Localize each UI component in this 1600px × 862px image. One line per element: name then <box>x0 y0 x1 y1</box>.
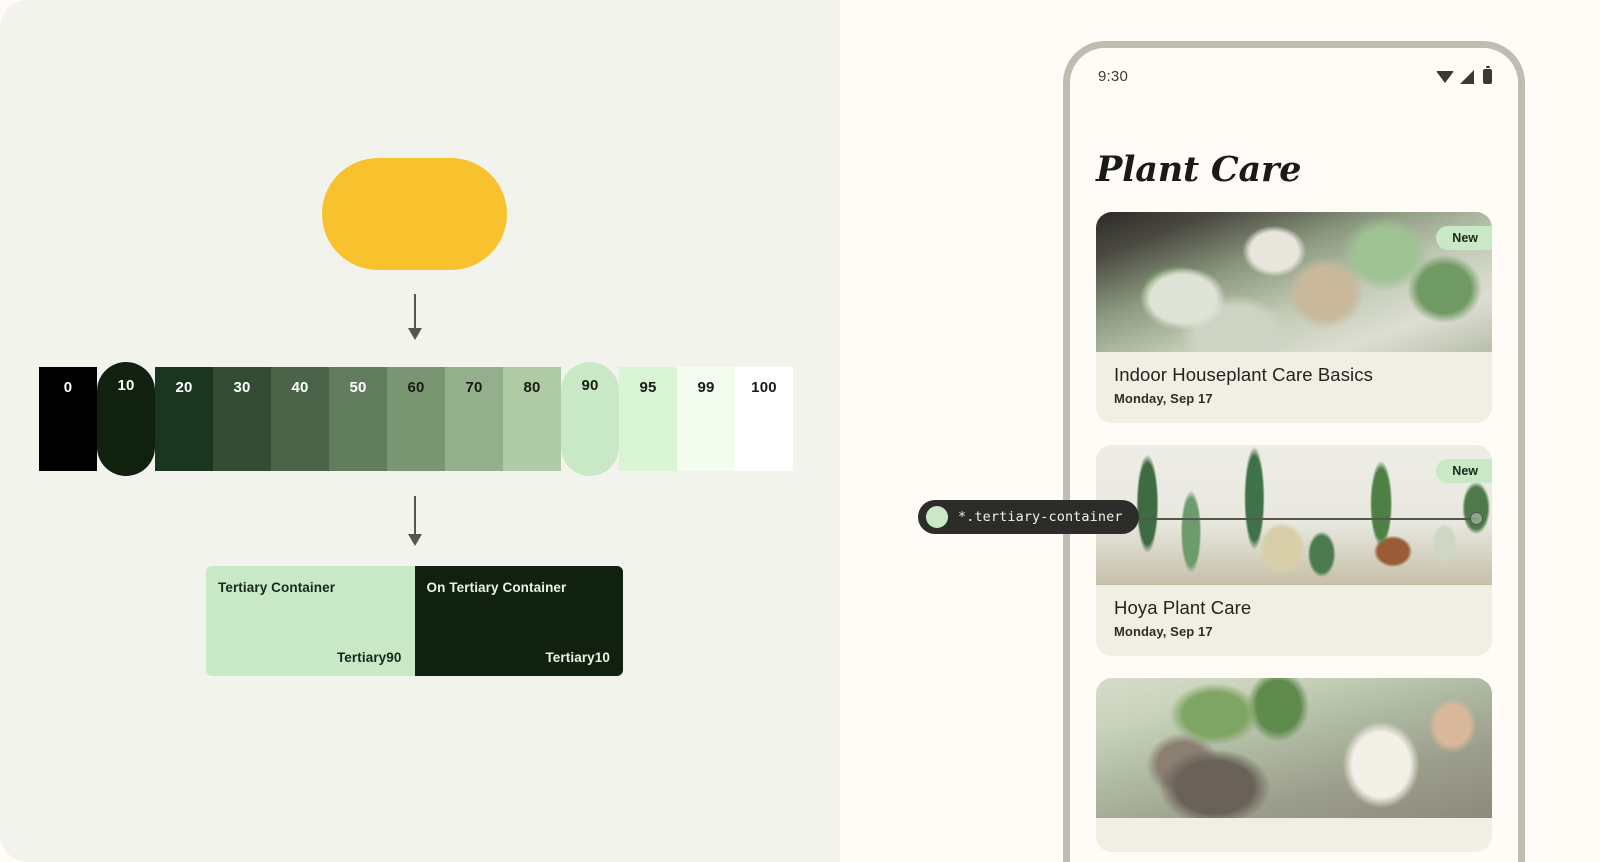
tone-swatch-95[interactable]: 95 <box>619 367 677 471</box>
article-card-list: New Indoor Houseplant Care Basics Monday… <box>1070 212 1518 852</box>
tone-swatch-99[interactable]: 99 <box>677 367 735 471</box>
phone-mockup: 9:30 Plant Care New Indoor Houseplant Ca… <box>1063 41 1525 862</box>
signal-icon <box>1460 70 1474 84</box>
tone-swatch-label: 95 <box>619 379 677 396</box>
card-date: Monday, Sep 17 <box>1114 391 1476 406</box>
cactus-shelf-photo <box>1096 445 1492 585</box>
card-title: Indoor Houseplant Care Basics <box>1114 364 1476 386</box>
source-color-swatch[interactable] <box>322 158 507 270</box>
tone-swatch-80[interactable]: 80 <box>503 367 561 471</box>
card-image: New <box>1096 445 1492 585</box>
tone-swatch-label: 20 <box>155 379 213 396</box>
arrow-head <box>408 534 422 546</box>
status-icon-group <box>1436 69 1492 84</box>
battery-icon <box>1483 69 1492 84</box>
tone-swatch-label: 60 <box>387 379 445 396</box>
tonal-palette-row: 01020304050607080909599100 <box>39 367 793 471</box>
arrow-source-to-palette <box>405 294 425 340</box>
tone-swatch-40[interactable]: 40 <box>271 367 329 471</box>
card-date: Monday, Sep 17 <box>1114 624 1476 639</box>
card-image <box>1096 678 1492 818</box>
tone-reference-label: Tertiary10 <box>545 650 610 665</box>
tone-swatch-30[interactable]: 30 <box>213 367 271 471</box>
status-bar: 9:30 <box>1070 48 1518 104</box>
list-item[interactable]: New Indoor Houseplant Care Basics Monday… <box>1096 212 1492 423</box>
card-body: Indoor Houseplant Care Basics Monday, Se… <box>1096 352 1492 423</box>
wifi-icon <box>1436 71 1454 83</box>
tone-swatch-label: 0 <box>39 379 97 396</box>
list-item[interactable]: New Hoya Plant Care Monday, Sep 17 <box>1096 445 1492 656</box>
tone-swatch-label: 50 <box>329 379 387 396</box>
role-label: On Tertiary Container <box>427 580 610 595</box>
tone-swatch-0[interactable]: 0 <box>39 367 97 471</box>
role-label: Tertiary Container <box>218 580 401 595</box>
status-badge[interactable]: New <box>1436 226 1492 250</box>
arrow-palette-to-roles <box>405 496 425 546</box>
annotation-leader-line <box>1123 518 1478 520</box>
tone-swatch-label: 30 <box>213 379 271 396</box>
phone-screen: 9:30 Plant Care New Indoor Houseplant Ca… <box>1070 48 1518 862</box>
tone-swatch-label: 100 <box>735 379 793 396</box>
tone-swatch-100[interactable]: 100 <box>735 367 793 471</box>
arrow-stem <box>414 294 416 329</box>
list-item[interactable] <box>1096 678 1492 852</box>
tone-swatch-50[interactable]: 50 <box>329 367 387 471</box>
tone-swatch-label: 70 <box>445 379 503 396</box>
tone-swatch-70[interactable]: 70 <box>445 367 503 471</box>
screenshot-root: 01020304050607080909599100 Tertiary Cont… <box>0 0 1600 862</box>
card-title: Hoya Plant Care <box>1114 597 1476 619</box>
on-tertiary-container-swatch[interactable]: On Tertiary Container Tertiary10 <box>415 566 624 676</box>
tone-swatch-label: 80 <box>503 379 561 396</box>
tone-swatch-20[interactable]: 20 <box>155 367 213 471</box>
tone-swatch-label: 99 <box>677 379 735 396</box>
status-time: 9:30 <box>1098 68 1128 85</box>
tertiary-container-swatch[interactable]: Tertiary Container Tertiary90 <box>206 566 415 676</box>
token-tooltip: *.tertiary-container <box>918 500 1139 534</box>
page-title: Plant Care <box>1096 149 1518 190</box>
arrow-stem <box>414 496 416 535</box>
tone-swatch-60[interactable]: 60 <box>387 367 445 471</box>
arrow-head <box>408 328 422 340</box>
tone-reference-label: Tertiary90 <box>337 650 402 665</box>
tone-swatch-90[interactable]: 90 <box>561 362 619 476</box>
tone-swatch-label: 40 <box>271 379 329 396</box>
palette-diagram-panel: 01020304050607080909599100 Tertiary Cont… <box>0 0 840 862</box>
status-badge[interactable]: New <box>1436 459 1492 483</box>
tone-swatch-label: 10 <box>97 377 155 394</box>
card-body <box>1096 818 1492 852</box>
color-swatch-dot <box>926 506 948 528</box>
watering-can-plant-photo <box>1096 678 1492 818</box>
cursor-indicator <box>1470 512 1483 525</box>
card-image: New <box>1096 212 1492 352</box>
tone-swatch-label: 90 <box>561 377 619 394</box>
tone-swatch-10[interactable]: 10 <box>97 362 155 476</box>
card-body: Hoya Plant Care Monday, Sep 17 <box>1096 585 1492 656</box>
role-color-pair: Tertiary Container Tertiary90 On Tertiar… <box>206 566 623 676</box>
token-name: *.tertiary-container <box>958 509 1123 525</box>
potted-succulents-photo <box>1096 212 1492 352</box>
